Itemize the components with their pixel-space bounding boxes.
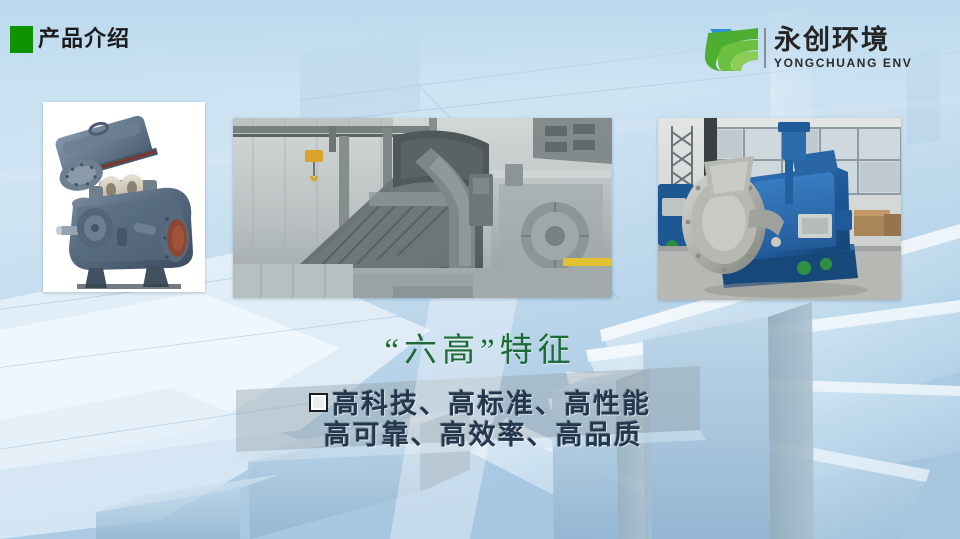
logo-name-en: YONGCHUANG ENV (774, 56, 912, 70)
logo-swoosh-icon (702, 23, 760, 73)
split-case-pump-photo (43, 102, 205, 292)
factory-equipment-photo (233, 118, 612, 298)
feature-line-2: 高可靠、高效率、高品质 (0, 420, 960, 451)
feature-line-1-text: 高科技、高标准、高性能 (332, 389, 651, 419)
page-title: 产品介绍 (38, 25, 130, 53)
square-bullet-icon (309, 393, 328, 412)
headline-six-high: “六高”特征 (0, 330, 960, 372)
logo-divider (764, 28, 766, 68)
logo-name-cn: 永创环境 (774, 26, 912, 55)
feature-list: 高科技、高标准、高性能 高可靠、高效率、高品质 (0, 389, 960, 451)
section-marker (10, 26, 33, 53)
logo-wordmark: 永创环境 YONGCHUANG ENV (774, 26, 912, 70)
presentation-slide: 产品介绍 永创环境 YONGCHUANG ENV (0, 0, 960, 539)
company-logo: 永创环境 YONGCHUANG ENV (702, 22, 912, 74)
blue-blower-photo (658, 118, 901, 300)
feature-line-1: 高科技、高标准、高性能 (0, 389, 960, 420)
